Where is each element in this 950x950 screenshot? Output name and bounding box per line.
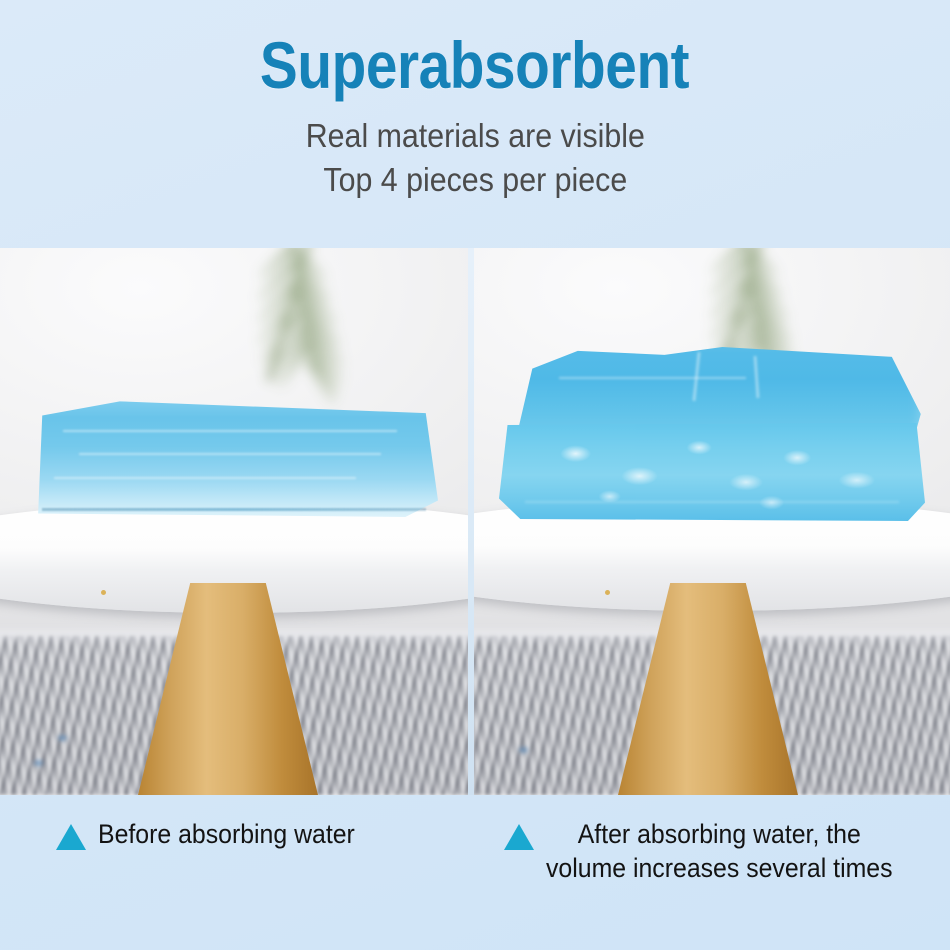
comparison-photo-band (0, 248, 950, 795)
triangle-bullet-icon (504, 824, 534, 850)
caption-after-text: After absorbing water, the volume increa… (546, 817, 893, 885)
before-absorbing-photo (0, 248, 468, 795)
after-absorbing-photo (474, 248, 950, 795)
caption-before-text: Before absorbing water (98, 817, 355, 851)
subtitle-line-2: Top 4 pieces per piece (305, 158, 644, 202)
subtitle-block: Real materials are visible Top 4 pieces … (305, 114, 644, 202)
absorbent-pad-flat (30, 399, 438, 517)
subtitle-line-1: Real materials are visible (305, 114, 644, 158)
caption-section: Before absorbing water After absorbing w… (0, 795, 950, 950)
caption-before-absorbing: Before absorbing water (0, 817, 492, 851)
caption-after-line-2: volume increases several times (546, 851, 893, 885)
page-title: Superabsorbent (260, 26, 689, 104)
photo-divider (468, 248, 474, 795)
triangle-bullet-icon (56, 824, 86, 850)
product-marketing-image: Superabsorbent Real materials are visibl… (0, 0, 950, 950)
header-section: Superabsorbent Real materials are visibl… (0, 0, 950, 248)
absorbent-pad-swollen (499, 345, 925, 521)
caption-after-absorbing: After absorbing water, the volume increa… (492, 817, 950, 885)
caption-after-line-1: After absorbing water, the (546, 817, 893, 851)
